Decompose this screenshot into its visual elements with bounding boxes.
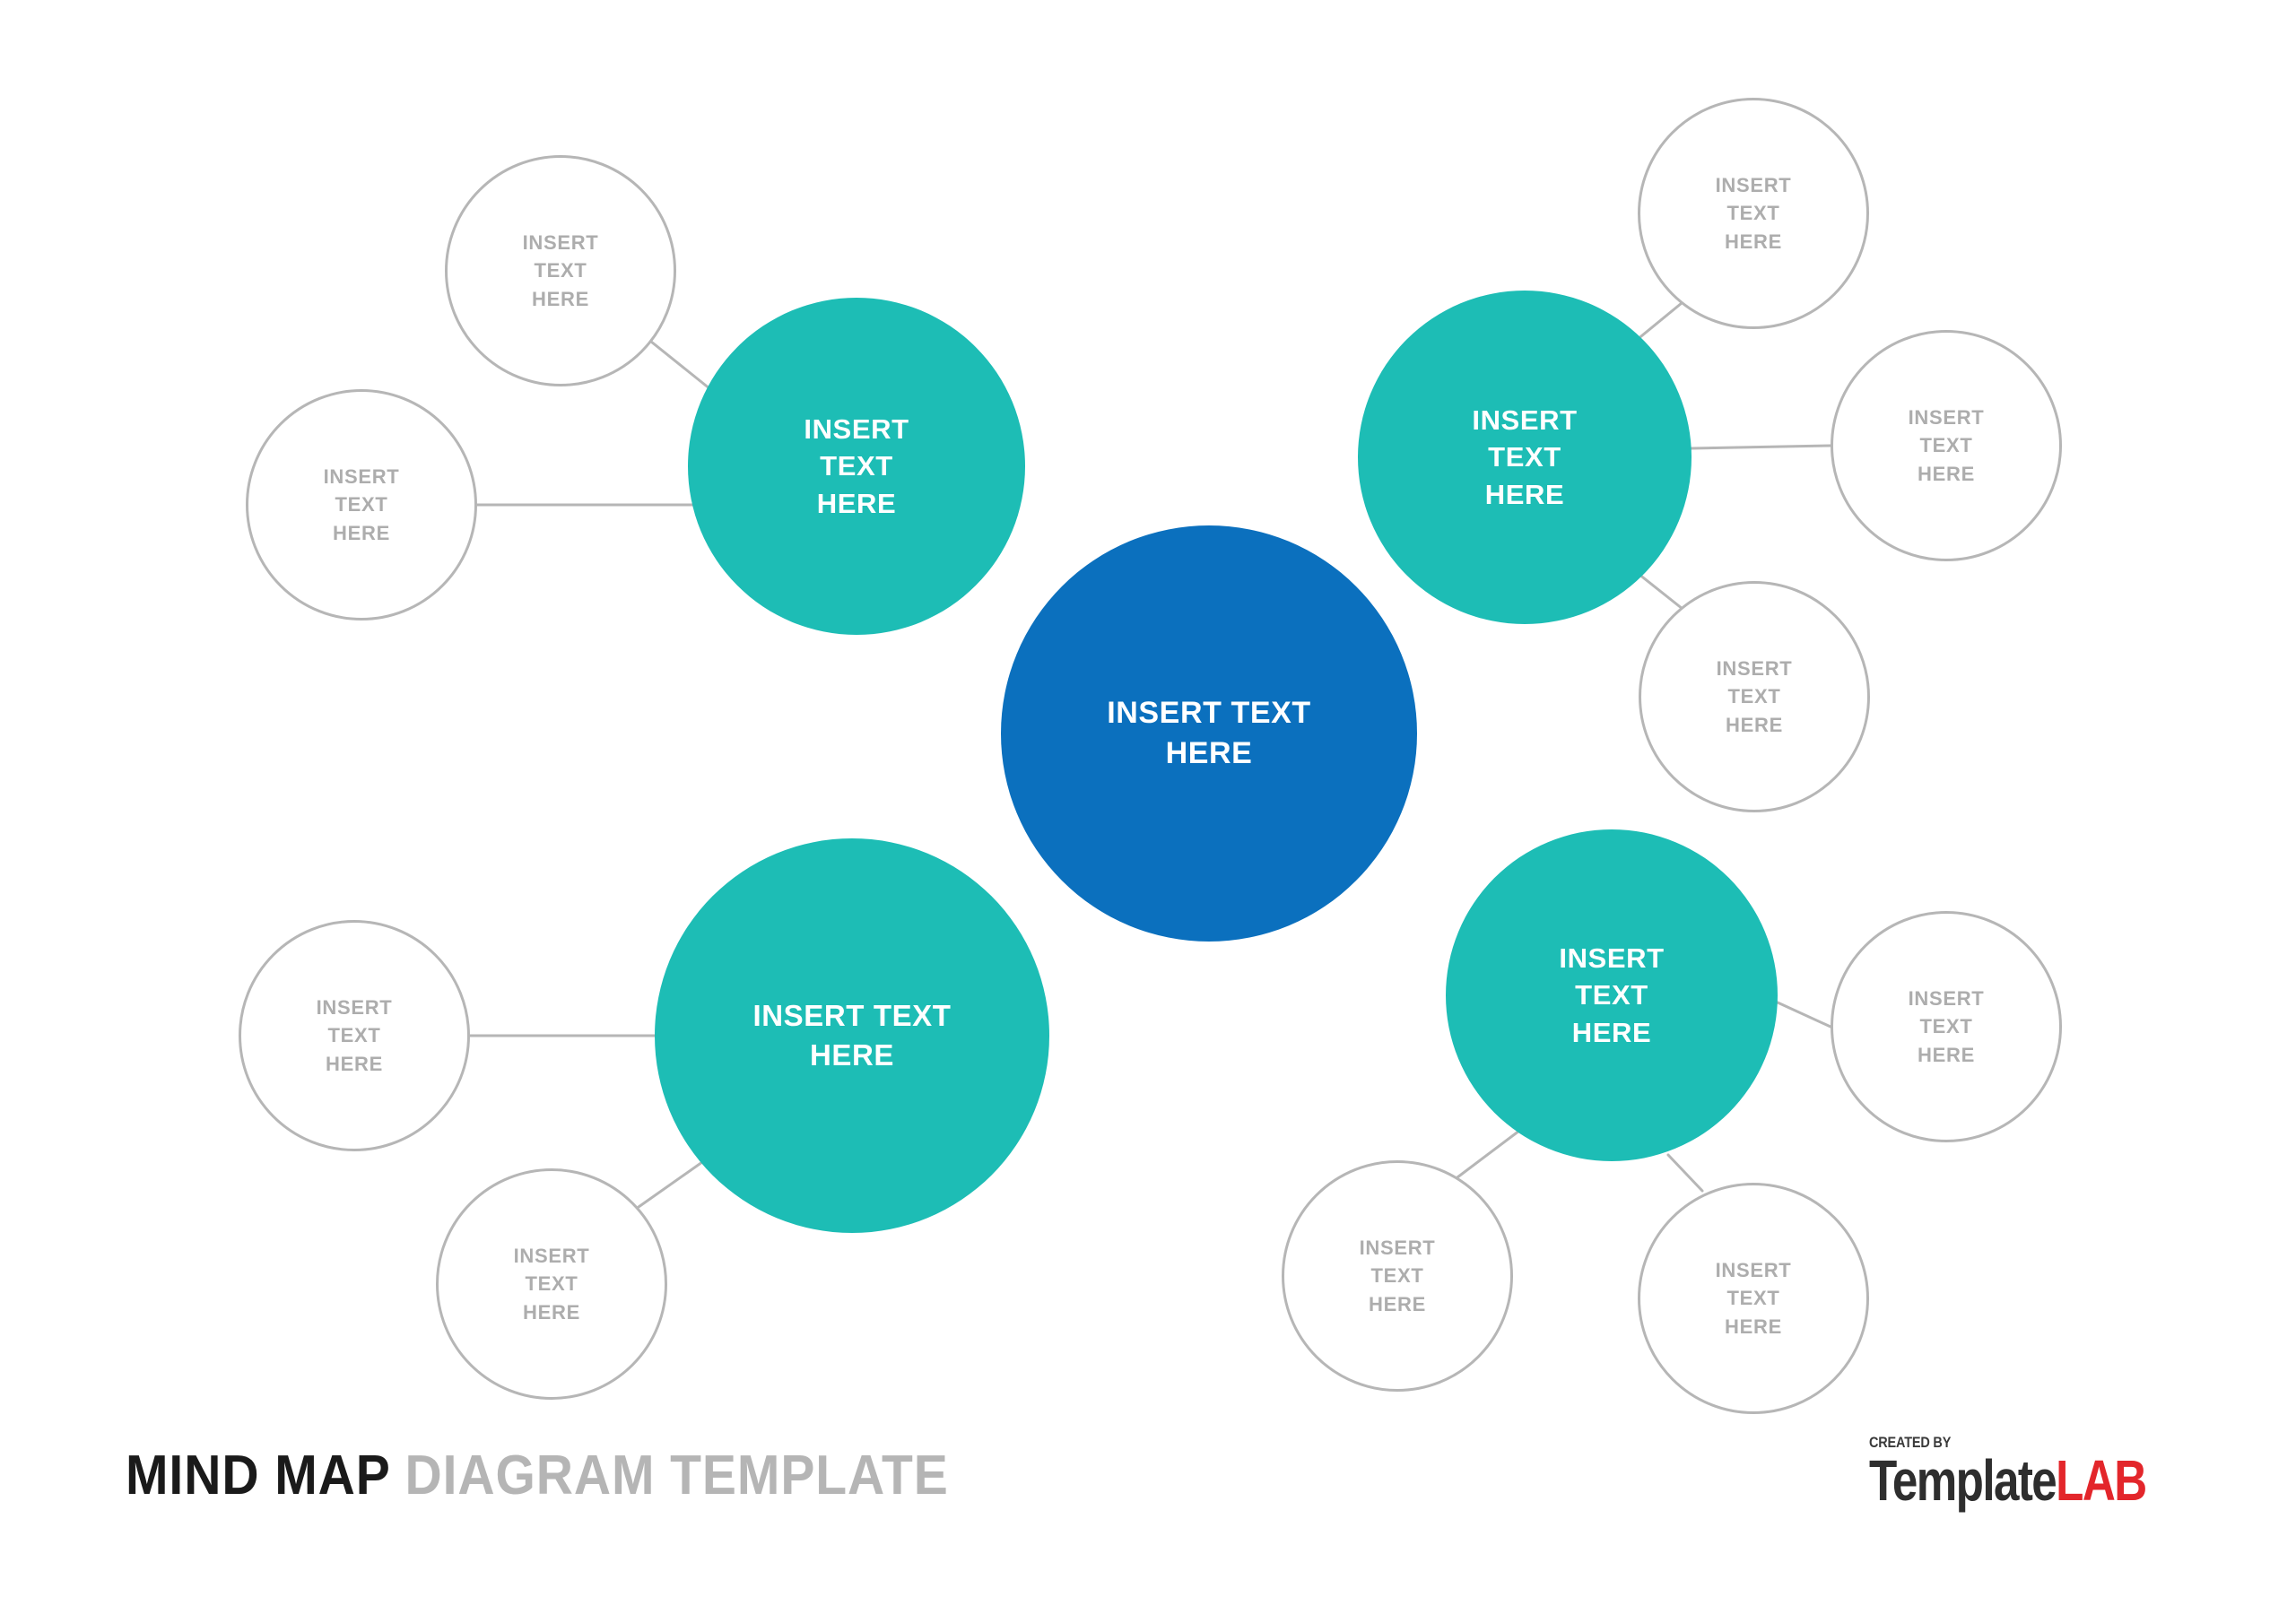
leaf-node-top-right-right-label: INSERT TEXT HERE (1909, 404, 1985, 488)
leaf-node-bottom-left-left-label: INSERT TEXT HERE (317, 994, 393, 1078)
leaf-node-bottom-right-lower-left[interactable]: INSERT TEXT HERE (1282, 1160, 1513, 1392)
leaf-node-bottom-right-right-label: INSERT TEXT HERE (1909, 985, 1985, 1069)
leaf-node-top-right-right[interactable]: INSERT TEXT HERE (1831, 330, 2062, 561)
brand-logo: CREATED BY TemplateLAB (1869, 1435, 2215, 1509)
page-title-strong: MIND MAP (126, 1445, 390, 1506)
mind-map-canvas: INSERT TEXT HERE INSERT TEXT HERE INSERT… (0, 0, 2296, 1623)
leaf-node-bottom-right-lower-right[interactable]: INSERT TEXT HERE (1638, 1183, 1869, 1414)
connector-leaf-tr-right-to-branch-top-right (1692, 446, 1831, 448)
leaf-node-top-right-upper-label: INSERT TEXT HERE (1716, 171, 1792, 256)
connector-leaf-br-lowerL-to-branch-bottom-right (1457, 1131, 1519, 1177)
leaf-node-top-left-left-label: INSERT TEXT HERE (324, 463, 400, 547)
branch-node-bottom-right-label: INSERT TEXT HERE (1559, 940, 1664, 1051)
leaf-node-bottom-right-lower-right-label: INSERT TEXT HERE (1716, 1256, 1792, 1341)
branch-node-top-right[interactable]: INSERT TEXT HERE (1358, 291, 1692, 624)
page-title: MIND MAP DIAGRAM TEMPLATE (126, 1444, 949, 1507)
leaf-node-bottom-left-lower-label: INSERT TEXT HERE (514, 1242, 590, 1326)
leaf-node-top-left-upper[interactable]: INSERT TEXT HERE (445, 155, 676, 386)
brand-wordmark-lab: LAB (2056, 1448, 2145, 1513)
connector-leaf-br-right-to-branch-bottom-right (1778, 1002, 1831, 1027)
brand-wordmark: TemplateLAB (1869, 1452, 2146, 1509)
page-title-light: DIAGRAM TEMPLATE (404, 1445, 948, 1506)
branch-node-top-left[interactable]: INSERT TEXT HERE (688, 298, 1025, 635)
branch-node-bottom-right[interactable]: INSERT TEXT HERE (1446, 829, 1778, 1161)
leaf-node-top-left-upper-label: INSERT TEXT HERE (523, 229, 599, 313)
leaf-node-bottom-left-lower[interactable]: INSERT TEXT HERE (436, 1168, 667, 1400)
center-node[interactable]: INSERT TEXT HERE (1001, 525, 1417, 942)
leaf-node-top-right-lower[interactable]: INSERT TEXT HERE (1639, 581, 1870, 812)
leaf-node-bottom-right-lower-left-label: INSERT TEXT HERE (1360, 1234, 1436, 1318)
leaf-node-top-right-lower-label: INSERT TEXT HERE (1717, 655, 1793, 739)
branch-node-top-left-label: INSERT TEXT HERE (804, 411, 909, 522)
connector-leaf-br-lowerR-to-branch-bottom-right (1668, 1155, 1702, 1191)
footer: MIND MAP DIAGRAM TEMPLATE CREATED BY Tem… (0, 1435, 2296, 1623)
leaf-node-bottom-right-right[interactable]: INSERT TEXT HERE (1831, 911, 2062, 1142)
branch-node-top-right-label: INSERT TEXT HERE (1472, 402, 1577, 513)
leaf-node-bottom-left-left[interactable]: INSERT TEXT HERE (239, 920, 470, 1151)
branch-node-bottom-left-label: INSERT TEXT HERE (752, 996, 951, 1075)
brand-wordmark-template: Template (1869, 1448, 2056, 1513)
branch-node-bottom-left[interactable]: INSERT TEXT HERE (655, 838, 1049, 1233)
center-node-label: INSERT TEXT HERE (1107, 693, 1311, 774)
leaf-node-top-right-upper[interactable]: INSERT TEXT HERE (1638, 98, 1869, 329)
leaf-node-top-left-left[interactable]: INSERT TEXT HERE (246, 389, 477, 621)
